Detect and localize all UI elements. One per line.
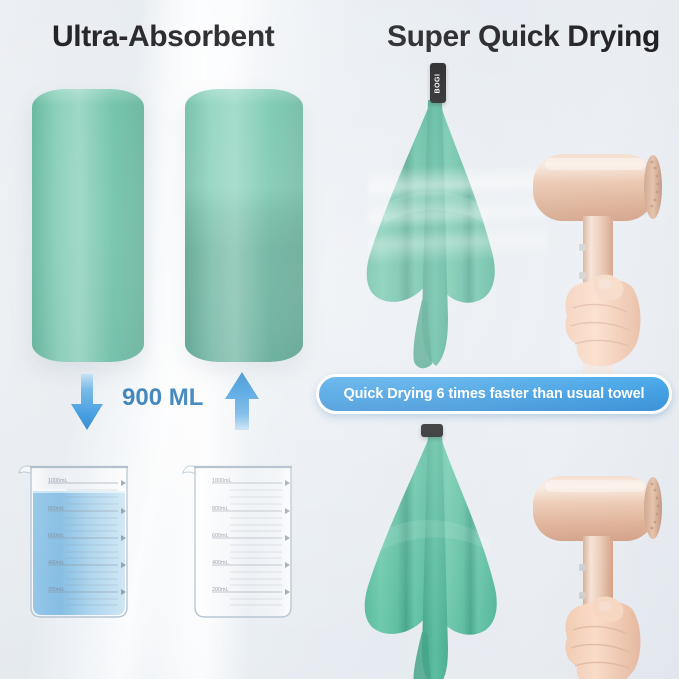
beaker-graduation-label: 800mL: [48, 506, 64, 512]
beaker-graduation-label: 1000mL: [212, 478, 231, 484]
rolled-towel-wet: [185, 89, 303, 362]
beaker-graduation-label: 200mL: [48, 587, 64, 593]
quick-drying-banner: Quick Drying 6 times faster than usual t…: [316, 374, 672, 414]
rolled-towel-wet-top: [185, 89, 303, 105]
towel-hang-loop-tag-top: BOGI: [430, 63, 446, 103]
beaker-graduation-label: 400mL: [212, 560, 228, 566]
beaker-graduation-label: 600mL: [48, 533, 64, 539]
banner-text: Quick Drying 6 times faster than usual t…: [344, 386, 645, 402]
beaker-graduation-label: 1000mL: [48, 478, 67, 484]
volume-capacity-label: 900 ML: [122, 384, 203, 412]
page-title-right: Super Quick Drying: [387, 20, 660, 54]
hair-dryer-bottom: [505, 462, 679, 679]
beaker-graduation-label: 400mL: [48, 560, 64, 566]
beaker-graduation-label: 800mL: [212, 506, 228, 512]
hair-dryer-top: [505, 136, 679, 376]
beaker-graduation-label: 200mL: [212, 587, 228, 593]
rolled-towel-dry-top: [32, 89, 144, 105]
empty-beaker: 1000mL 800mL 600mL 400mL 200mL: [182, 455, 304, 623]
rolled-towel-dry: [32, 89, 144, 362]
pour-down-arrow-icon: [68, 374, 106, 430]
page-title-left: Ultra-Absorbent: [52, 20, 274, 54]
beaker-with-water: 1000mL 800mL 600mL 400mL 200mL: [18, 455, 140, 623]
infographic-canvas: Ultra-Absorbent 900 ML: [0, 0, 679, 679]
absorb-up-arrow-icon: [222, 372, 262, 430]
hangtag-brand-text: BOGI: [435, 73, 442, 93]
towel-hang-loop-tag-bottom: [421, 424, 443, 437]
beaker-graduation-label: 600mL: [212, 533, 228, 539]
